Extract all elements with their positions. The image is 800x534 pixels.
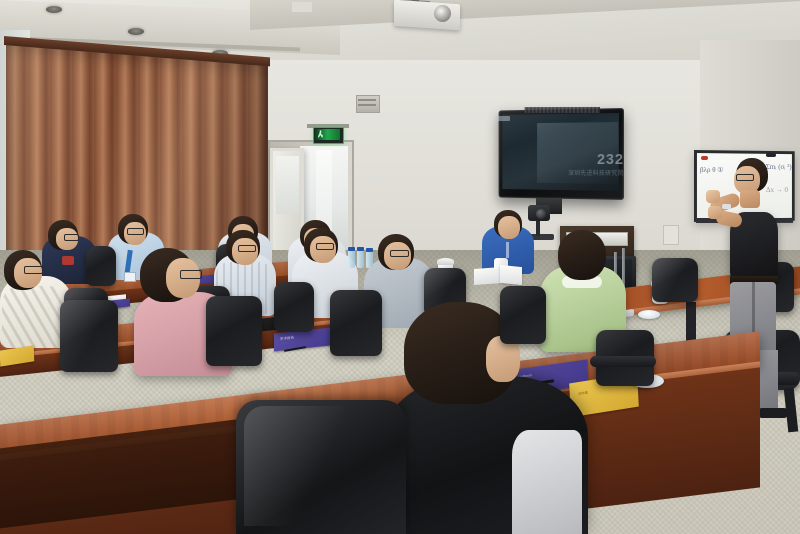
chair-highlight (652, 258, 698, 302)
bottle-cap (348, 247, 355, 251)
water-bottle[interactable] (348, 250, 355, 268)
attendee-1-blouse-pattern (2, 286, 66, 348)
attendee-3-badge (124, 272, 136, 282)
vent-louver (358, 99, 376, 101)
attendee-7-glasses-icon (238, 245, 256, 252)
bottle-cap (357, 247, 364, 251)
projector-lens-icon (434, 5, 451, 22)
seminar-room-photo: 232 深圳先进科技研究院 βλρ θ ① f = Σmᵢ (σᵢ ²) Δx … (0, 0, 800, 534)
papers[interactable] (474, 267, 502, 285)
camera-stem (536, 220, 540, 236)
chair-back[interactable] (274, 282, 314, 332)
bottle-cap (366, 248, 373, 252)
attendee-9-head (558, 230, 606, 280)
attendee-4-glasses-icon (180, 270, 202, 279)
tv-speaker-grille (525, 107, 600, 113)
door-window (276, 156, 299, 214)
chair-back[interactable] (500, 286, 546, 344)
camera-lens-icon (536, 209, 546, 219)
red-marker-icon (701, 156, 708, 160)
vent-louver (358, 104, 376, 106)
host-face (498, 216, 520, 239)
attendee-2-logo (62, 256, 74, 265)
saucer[interactable] (638, 310, 660, 319)
chair-back[interactable] (86, 246, 116, 286)
attendee-10-sleeve (512, 430, 582, 534)
black-marker-icon (766, 153, 776, 157)
downlight-icon (46, 6, 62, 13)
presenter-hand-left (706, 190, 720, 203)
attendee-11-glasses-icon (390, 250, 409, 257)
attendee-8-glasses-icon (316, 243, 334, 250)
host-placket (506, 242, 509, 258)
downlight-icon (128, 28, 144, 35)
presenter-watch-icon (722, 204, 731, 209)
presenter-glasses-icon (736, 174, 754, 181)
water-bottle[interactable] (357, 250, 364, 268)
tv-screen-logo-subtext: 深圳先进科技研究院 (552, 168, 624, 177)
chair-highlight (244, 406, 394, 526)
chair-armrest[interactable] (590, 356, 656, 367)
water-bottle[interactable] (366, 251, 373, 268)
wall-socket (663, 225, 679, 245)
presenter-neck (740, 190, 760, 208)
chair-highlight (60, 300, 118, 372)
tv-brand-badge (496, 116, 510, 121)
attendee-2-glasses-icon (64, 234, 79, 241)
mug-lid (437, 258, 454, 265)
chair-back[interactable] (206, 296, 262, 366)
wall-switch (292, 2, 312, 12)
whiteboard-note: Δx → 0 (766, 186, 800, 194)
attendee-3-glasses-icon (127, 228, 144, 235)
presenter-hand-right (708, 206, 722, 219)
chair-back[interactable] (330, 290, 382, 356)
presenter-shoe-right (758, 408, 788, 418)
papers[interactable] (500, 265, 522, 285)
exit-sign-glow (315, 129, 340, 140)
